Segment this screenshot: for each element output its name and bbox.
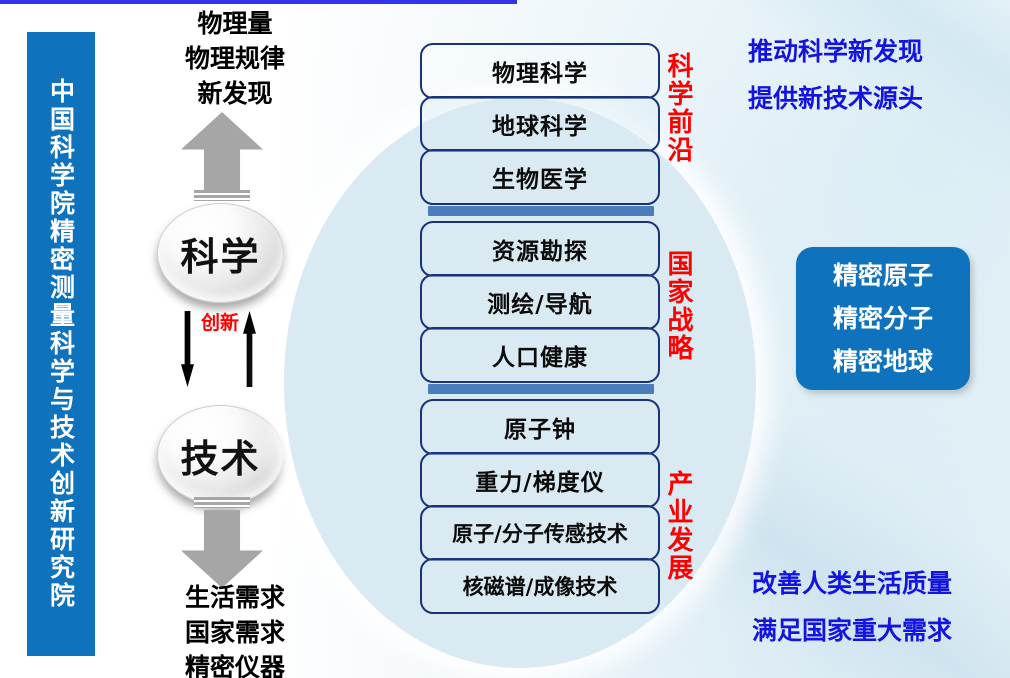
node-surveying-navigation[interactable]: 测绘/导航 <box>420 274 660 330</box>
precision-card-line-3: 精密地球 <box>833 340 933 383</box>
arrow-down-tail-icon <box>194 497 250 508</box>
group-divider-1 <box>428 206 654 216</box>
innovation-arrow-up-icon <box>243 311 256 387</box>
node-label: 重力/梯度仪 <box>475 463 604 497</box>
category-label-national-strategy: 国家战略 <box>660 250 696 362</box>
node-stack: 物理科学 地球科学 生物医学 资源勘探 测绘/导航 人口健康 原子钟 <box>420 43 660 611</box>
top-output-line-1: 物理量 <box>140 6 330 41</box>
node-label: 原子/分子传感技术 <box>452 518 628 548</box>
science-sphere: 科学 <box>157 203 284 303</box>
innovation-label: 创新 <box>200 311 240 336</box>
node-gravimeter-gradiometer[interactable]: 重力/梯度仪 <box>420 452 660 508</box>
node-label: 生物医学 <box>492 160 588 194</box>
bottom-output-line-2: 国家需求 <box>140 615 330 650</box>
node-physical-science[interactable]: 物理科学 <box>420 43 660 99</box>
bottom-output-line-1: 生活需求 <box>140 580 330 615</box>
statement-top-line-1: 推动科学新发现 <box>748 28 923 75</box>
technology-sphere: 技术 <box>157 405 284 505</box>
organization-banner: 中国科学院精密测量科学与技术创新研究院 <box>27 32 95 656</box>
top-outputs-text: 物理量 物理规律 新发现 <box>140 6 330 111</box>
statement-bottom-line-1: 改善人类生活质量 <box>752 560 952 607</box>
node-biomedicine[interactable]: 生物医学 <box>420 149 660 205</box>
organization-title: 中国科学院精密测量科学与技术创新研究院 <box>45 78 78 610</box>
category-label-industrial-development: 产业发展 <box>660 470 696 582</box>
statement-bottom: 改善人类生活质量 满足国家重大需求 <box>752 560 952 654</box>
bottom-outputs-text: 生活需求 国家需求 精密仪器 <box>140 580 330 678</box>
node-resource-exploration[interactable]: 资源勘探 <box>420 221 660 277</box>
group-divider-2 <box>428 384 654 394</box>
node-label: 资源勘探 <box>492 232 588 266</box>
precision-card: 精密原子 精密分子 精密地球 <box>796 247 970 390</box>
innovation-arrow-down-icon <box>181 311 194 387</box>
node-atomic-clock[interactable]: 原子钟 <box>420 399 660 455</box>
node-nmr-imaging[interactable]: 核磁谱/成像技术 <box>420 558 660 614</box>
top-output-line-2: 物理规律 <box>140 41 330 76</box>
technology-sphere-label: 技术 <box>180 428 260 483</box>
science-sphere-label: 科学 <box>180 226 260 281</box>
top-accent-rule <box>0 0 517 4</box>
top-output-line-3: 新发现 <box>140 76 330 111</box>
bottom-output-line-3: 精密仪器 <box>140 650 330 678</box>
slide-canvas: 中国科学院精密测量科学与技术创新研究院 物理量 物理规律 新发现 科学 创新 技… <box>0 0 1010 678</box>
arrow-up-tail-icon <box>194 190 250 201</box>
precision-card-line-1: 精密原子 <box>833 254 933 297</box>
node-earth-science[interactable]: 地球科学 <box>420 96 660 152</box>
group-industrial-development: 原子钟 重力/梯度仪 原子/分子传感技术 核磁谱/成像技术 <box>420 399 660 611</box>
statement-bottom-line-2: 满足国家重大需求 <box>752 607 952 654</box>
group-science-frontier: 物理科学 地球科学 生物医学 <box>420 43 660 202</box>
node-population-health[interactable]: 人口健康 <box>420 327 660 383</box>
category-label-science-frontier: 科学前沿 <box>660 52 696 164</box>
node-label: 核磁谱/成像技术 <box>463 571 618 601</box>
arrow-up-icon <box>181 112 263 190</box>
node-label: 测绘/导航 <box>487 285 592 319</box>
statement-top-line-2: 提供新技术源头 <box>748 75 923 122</box>
group-national-strategy: 资源勘探 测绘/导航 人口健康 <box>420 221 660 380</box>
node-label: 物理科学 <box>492 54 588 88</box>
node-label: 人口健康 <box>492 338 588 372</box>
node-atomic-molecular-sensing[interactable]: 原子/分子传感技术 <box>420 505 660 561</box>
node-label: 地球科学 <box>492 107 588 141</box>
node-label: 原子钟 <box>504 410 576 444</box>
arrow-down-icon <box>181 510 263 588</box>
statement-top: 推动科学新发现 提供新技术源头 <box>748 28 923 122</box>
precision-card-line-2: 精密分子 <box>833 297 933 340</box>
